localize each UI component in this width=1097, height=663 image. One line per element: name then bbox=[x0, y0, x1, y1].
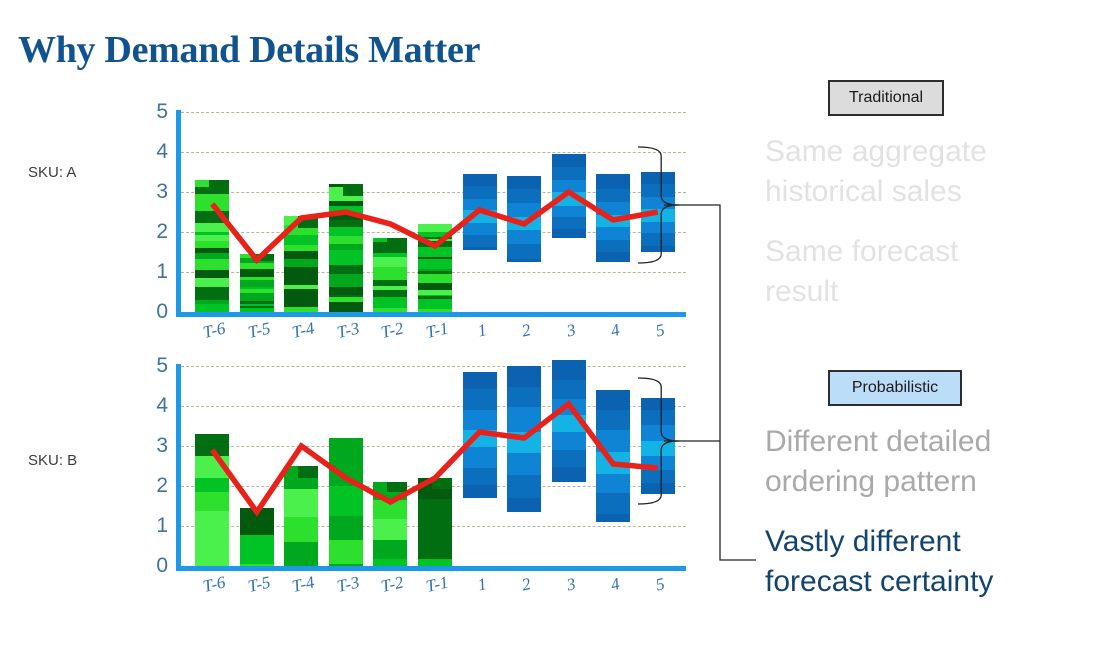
bar-segment bbox=[284, 267, 318, 275]
x-axis-tick: T-3 bbox=[335, 318, 361, 343]
bar-segment bbox=[463, 210, 497, 223]
bar-segment bbox=[641, 398, 675, 410]
bar-segment bbox=[284, 542, 318, 554]
bar-segment bbox=[507, 259, 541, 262]
x-axis-tick: 5 bbox=[654, 574, 667, 595]
forecast-uncertainty-bar bbox=[596, 390, 630, 522]
bar-segment bbox=[418, 224, 452, 232]
bar-segment bbox=[195, 478, 229, 492]
page-title: Why Demand Details Matter bbox=[18, 28, 480, 72]
bar-segment bbox=[463, 372, 497, 389]
bar-segment bbox=[195, 211, 229, 218]
bar-segment bbox=[329, 304, 363, 312]
bar-segment bbox=[463, 430, 497, 447]
x-axis-tick: T-6 bbox=[201, 572, 227, 597]
bar-segment-cap bbox=[343, 184, 363, 196]
bar-segment bbox=[463, 247, 497, 250]
x-axis-tick: 4 bbox=[609, 320, 622, 341]
history-bar bbox=[373, 238, 407, 312]
x-axis-tick: T-5 bbox=[246, 318, 272, 343]
x-axis-tick: T-2 bbox=[380, 318, 406, 343]
probabilistic-point-2: Vastly different forecast certainty bbox=[765, 522, 1075, 602]
bar-segment-cap bbox=[298, 216, 318, 228]
history-bar bbox=[329, 438, 363, 566]
bar-segment bbox=[552, 450, 586, 466]
forecast-uncertainty-bar bbox=[507, 366, 541, 512]
bar-segment bbox=[596, 240, 630, 252]
bar-segment bbox=[195, 304, 229, 312]
bar-segment bbox=[641, 197, 675, 208]
bar-segment bbox=[463, 174, 497, 186]
bar-segment bbox=[418, 539, 452, 559]
bar-segment bbox=[641, 184, 675, 197]
bar-segment bbox=[329, 265, 363, 274]
bar-segment bbox=[195, 537, 229, 566]
bar-segment bbox=[641, 209, 675, 222]
bar-segment bbox=[284, 554, 318, 566]
probabilistic-point-1: Different detailed ordering pattern bbox=[765, 422, 1075, 502]
sku-b-row-label: SKU: B bbox=[28, 452, 77, 469]
bar-segment bbox=[463, 485, 497, 498]
bar-segment bbox=[329, 256, 363, 265]
bar-segment bbox=[596, 227, 630, 241]
bar-segment bbox=[507, 203, 541, 216]
sku-a-row-label: SKU: A bbox=[28, 164, 76, 181]
bar-segment bbox=[329, 516, 363, 540]
bar-segment bbox=[596, 430, 630, 451]
bar-segment bbox=[596, 474, 630, 492]
bar-segment bbox=[641, 172, 675, 184]
x-axis-tick: 3 bbox=[564, 574, 577, 595]
x-axis-tick: T-3 bbox=[335, 572, 361, 597]
x-axis-tick: 2 bbox=[520, 320, 533, 341]
bar-segment-cap bbox=[387, 238, 407, 247]
bar-segment bbox=[418, 299, 452, 308]
bar-segment bbox=[463, 186, 497, 199]
bar-segment bbox=[418, 247, 452, 257]
gridline bbox=[181, 152, 686, 153]
bar-segment bbox=[596, 189, 630, 203]
bar-segment bbox=[641, 233, 675, 246]
x-axis-tick: T-2 bbox=[380, 572, 406, 597]
bar-segment bbox=[596, 493, 630, 514]
bar-segment bbox=[329, 274, 363, 284]
bar-segment bbox=[195, 270, 229, 277]
bar-segment bbox=[195, 241, 229, 248]
forecast-uncertainty-bar bbox=[641, 398, 675, 494]
bar-segment bbox=[463, 410, 497, 430]
bar-segment bbox=[552, 399, 586, 415]
bar-segment bbox=[463, 389, 497, 410]
bar-segment bbox=[507, 407, 541, 431]
forecast-uncertainty-bar bbox=[641, 172, 675, 252]
chart-sku-a: 012345T-6T-5T-4T-3T-2T-112345 bbox=[176, 110, 686, 317]
history-bar bbox=[329, 184, 363, 312]
x-axis-tick: 3 bbox=[564, 320, 577, 341]
bar-segment bbox=[463, 468, 497, 485]
bar-segment bbox=[552, 432, 586, 450]
forecast-uncertainty-bar bbox=[552, 360, 586, 482]
y-axis-tick: 1 bbox=[156, 514, 168, 538]
bar-segment bbox=[641, 222, 675, 233]
forecast-uncertainty-bar bbox=[552, 154, 586, 238]
x-axis-tick: 2 bbox=[520, 574, 533, 595]
gridline bbox=[181, 112, 686, 113]
y-axis-line-b bbox=[176, 364, 181, 571]
x-axis-tick: T-6 bbox=[201, 318, 227, 343]
y-axis-tick: 0 bbox=[156, 300, 168, 324]
history-bar bbox=[195, 434, 229, 566]
bar-segment bbox=[552, 206, 586, 217]
forecast-uncertainty-bar bbox=[507, 176, 541, 262]
bar-segment bbox=[329, 461, 363, 486]
history-bar bbox=[240, 254, 274, 312]
bar-segment bbox=[552, 415, 586, 432]
bar-segment bbox=[641, 246, 675, 252]
bar-segment bbox=[329, 540, 363, 564]
x-axis-line-b bbox=[176, 566, 686, 571]
bar-segment bbox=[373, 540, 407, 559]
bar-segment bbox=[195, 259, 229, 266]
bar-segment bbox=[373, 519, 407, 540]
bar-segment bbox=[195, 223, 229, 232]
history-bar bbox=[418, 478, 452, 566]
plot-area-sku-a: 012345T-6T-5T-4T-3T-2T-112345 bbox=[176, 110, 686, 317]
bar-segment bbox=[596, 452, 630, 474]
bar-segment bbox=[463, 447, 497, 468]
x-axis-tick: T-4 bbox=[290, 318, 316, 343]
plot-area-sku-b: 012345T-6T-5T-4T-3T-2T-112345 bbox=[176, 364, 686, 571]
y-axis-tick: 2 bbox=[156, 220, 168, 244]
bar-segment bbox=[641, 456, 675, 469]
bar-segment bbox=[240, 269, 274, 277]
bar-segment bbox=[507, 189, 541, 203]
bar-segment bbox=[596, 215, 630, 227]
bar-segment bbox=[329, 438, 363, 461]
bar-segment bbox=[507, 387, 541, 407]
bar-segment bbox=[240, 508, 274, 535]
history-bar bbox=[195, 180, 229, 312]
bar-segment bbox=[195, 511, 229, 537]
bar-segment bbox=[284, 235, 318, 244]
bar-segment bbox=[418, 259, 452, 269]
bar-segment bbox=[284, 259, 318, 267]
bar-segment-cap bbox=[209, 180, 229, 192]
chart-sku-b: 012345T-6T-5T-4T-3T-2T-112345 bbox=[176, 364, 686, 571]
bar-segment bbox=[507, 244, 541, 258]
bar-segment bbox=[463, 223, 497, 236]
bar-segment bbox=[552, 167, 586, 180]
bar-segment bbox=[552, 360, 586, 380]
bar-segment bbox=[596, 252, 630, 262]
bar-segment-cap bbox=[432, 478, 452, 489]
bar-segment bbox=[552, 180, 586, 192]
connector-path bbox=[720, 441, 756, 560]
bar-segment bbox=[284, 489, 318, 517]
bar-segment bbox=[507, 217, 541, 230]
forecast-uncertainty-bar bbox=[596, 174, 630, 262]
x-axis-tick: T-5 bbox=[246, 572, 272, 597]
bar-segment bbox=[463, 235, 497, 246]
bar-segment bbox=[507, 230, 541, 245]
bar-segment bbox=[418, 520, 452, 540]
history-bar bbox=[284, 216, 318, 312]
x-axis-tick: 1 bbox=[475, 320, 488, 341]
y-axis-tick: 4 bbox=[156, 394, 168, 418]
traditional-point-2: Same forecast result bbox=[765, 232, 1065, 312]
x-axis-tick: 1 bbox=[475, 574, 488, 595]
bar-segment bbox=[552, 467, 586, 482]
forecast-uncertainty-bar bbox=[463, 372, 497, 498]
bar-segment bbox=[507, 176, 541, 189]
history-bar bbox=[240, 508, 274, 566]
bar-segment-cap bbox=[253, 254, 273, 261]
bar-segment bbox=[329, 227, 363, 236]
bar-segment bbox=[596, 202, 630, 214]
bar-segment bbox=[507, 475, 541, 498]
x-axis-tick: 5 bbox=[654, 320, 667, 341]
bar-segment bbox=[596, 410, 630, 430]
bar-segment bbox=[418, 283, 452, 291]
bar-segment bbox=[641, 425, 675, 441]
bar-segment bbox=[507, 432, 541, 453]
bar-segment bbox=[507, 366, 541, 387]
y-axis-tick: 5 bbox=[156, 100, 168, 124]
bar-segment bbox=[329, 236, 363, 244]
bar-segment bbox=[195, 278, 229, 287]
bar-segment bbox=[552, 154, 586, 167]
y-axis-tick: 4 bbox=[156, 140, 168, 164]
bar-segment bbox=[552, 380, 586, 399]
y-axis-line-a bbox=[176, 110, 181, 317]
bar-segment bbox=[418, 274, 452, 282]
bar-segment bbox=[552, 192, 586, 206]
bar-segment bbox=[195, 434, 229, 456]
y-axis-tick: 2 bbox=[156, 474, 168, 498]
history-bar bbox=[284, 466, 318, 566]
bar-segment bbox=[373, 290, 407, 297]
bar-segment bbox=[329, 486, 363, 516]
history-bar bbox=[418, 224, 452, 312]
y-axis-tick: 0 bbox=[156, 554, 168, 578]
bar-segment bbox=[329, 220, 363, 227]
x-axis-tick: T-1 bbox=[424, 572, 450, 597]
x-axis-tick: 4 bbox=[609, 574, 622, 595]
bar-segment bbox=[596, 514, 630, 522]
history-bar bbox=[373, 482, 407, 566]
y-axis-tick: 3 bbox=[156, 434, 168, 458]
bar-segment bbox=[240, 535, 274, 563]
y-axis-tick: 1 bbox=[156, 260, 168, 284]
bar-segment bbox=[284, 251, 318, 259]
badge-traditional[interactable]: Traditional bbox=[828, 80, 944, 116]
bar-segment bbox=[552, 217, 586, 229]
bar-segment bbox=[507, 498, 541, 512]
bar-segment bbox=[284, 289, 318, 298]
bar-segment bbox=[329, 287, 363, 294]
x-axis-line-a bbox=[176, 312, 686, 317]
bar-segment bbox=[373, 500, 407, 519]
bar-segment bbox=[641, 441, 675, 456]
bar-segment bbox=[463, 199, 497, 210]
x-axis-tick: T-1 bbox=[424, 318, 450, 343]
gridline bbox=[181, 366, 686, 367]
bar-segment-cap bbox=[387, 482, 407, 492]
bar-segment bbox=[641, 470, 675, 484]
y-axis-tick: 5 bbox=[156, 354, 168, 378]
bar-segment bbox=[195, 492, 229, 511]
bar-segment-cap bbox=[298, 466, 318, 478]
bar-segment bbox=[418, 499, 452, 519]
bar-segment bbox=[641, 410, 675, 425]
bar-segment bbox=[240, 293, 274, 301]
traditional-point-1: Same aggregate historical sales bbox=[765, 132, 1065, 212]
y-axis-tick: 3 bbox=[156, 180, 168, 204]
badge-probabilistic[interactable]: Probabilistic bbox=[828, 370, 962, 406]
forecast-uncertainty-bar bbox=[463, 174, 497, 250]
bar-segment bbox=[329, 206, 363, 215]
bar-segment bbox=[284, 517, 318, 542]
bar-segment bbox=[596, 390, 630, 410]
bar-segment bbox=[552, 229, 586, 238]
bar-segment bbox=[596, 174, 630, 189]
bar-segment bbox=[195, 291, 229, 300]
x-axis-tick: T-4 bbox=[290, 572, 316, 597]
bar-segment bbox=[641, 483, 675, 494]
bar-segment bbox=[507, 453, 541, 475]
bar-segment bbox=[195, 456, 229, 478]
